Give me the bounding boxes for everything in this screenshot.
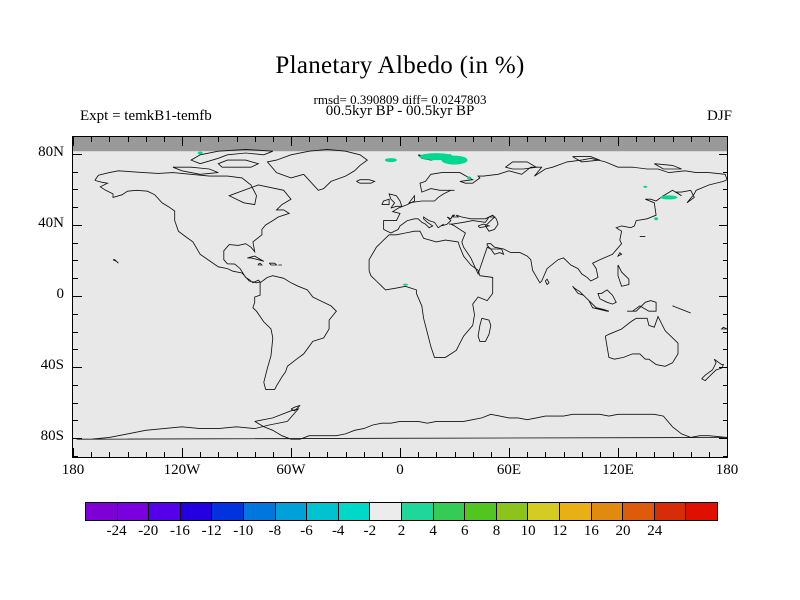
tick-mark [255,137,256,142]
colorbar-swatch[interactable] [212,503,244,520]
colorbar-swatch[interactable] [307,503,339,520]
tick-mark [709,137,710,142]
tick-mark [618,448,619,457]
tick-mark [73,367,82,368]
colorbar-tick-label: 16 [584,523,599,540]
tick-mark [382,452,383,457]
colorbar-swatch[interactable] [560,503,592,520]
tick-mark [723,332,728,333]
colorbar-tick-label: -8 [269,523,282,540]
tick-mark [291,448,292,457]
tick-mark [654,137,655,142]
tick-mark [491,452,492,457]
colorbar-swatch[interactable] [370,503,402,520]
tick-mark [600,452,601,457]
tick-mark [182,137,183,146]
colorbar-swatch[interactable] [149,503,181,520]
colorbar-tick-label: 20 [616,523,631,540]
tick-mark [218,452,219,457]
tick-mark [146,137,147,142]
map-background [73,137,727,457]
tick-mark [164,137,165,142]
colorbar-tick-label: 12 [552,523,567,540]
colorbar-swatch[interactable] [465,503,497,520]
colorbar-tick-label: -12 [202,523,222,540]
anomaly-patch [660,195,677,199]
tick-mark [109,137,110,142]
colorbar-swatch[interactable] [118,503,150,520]
x-axis-label: 120W [164,462,201,479]
colorbar-swatch[interactable] [497,503,529,520]
tick-mark [182,448,183,457]
x-axis-label: 180 [716,462,739,479]
tick-mark [527,452,528,457]
tick-mark [364,452,365,457]
colorbar-swatch[interactable] [528,503,560,520]
tick-mark [273,137,274,142]
tick-mark [723,420,728,421]
tick-mark [473,137,474,142]
tick-mark [491,137,492,142]
tick-mark [200,452,201,457]
anomaly-patch [467,176,471,179]
tick-mark [673,452,674,457]
tick-mark [636,137,637,142]
tick-mark [418,452,419,457]
tick-mark [418,137,419,142]
colorbar-tick-label: 6 [461,523,469,540]
tick-mark [545,452,546,457]
tick-mark [73,260,78,261]
tick-mark [400,137,401,146]
tick-mark [564,137,565,142]
tick-mark [600,137,601,142]
colorbar-swatch[interactable] [434,503,466,520]
tick-mark [527,137,528,142]
tick-mark [73,154,82,155]
colorbar-tick-label: -2 [364,523,377,540]
tick-mark [218,137,219,142]
anomaly-patch [403,284,408,286]
tick-mark [719,154,728,155]
world-map [73,137,727,457]
tick-mark [327,452,328,457]
tick-mark [473,452,474,457]
tick-mark [91,452,92,457]
anomaly-patch [654,217,658,220]
colorbar-swatch[interactable] [623,503,655,520]
tick-mark [719,225,728,226]
y-axis-label: 40S [41,357,64,374]
colorbar-tick-label: -24 [107,523,127,540]
colorbar-swatch[interactable] [276,503,308,520]
colorbar-tick-label: -4 [332,523,345,540]
page-title: Planetary Albedo (in %) [0,52,800,80]
tick-mark [723,243,728,244]
tick-mark [109,452,110,457]
tick-mark [582,452,583,457]
y-axis-label: 80S [41,428,64,445]
tick-mark [128,137,129,142]
tick-mark [237,137,238,142]
tick-mark [73,385,78,386]
tick-mark [455,452,456,457]
tick-mark [309,137,310,142]
tick-mark [291,137,292,146]
colorbar-tick-label: -16 [170,523,190,540]
tick-mark [400,448,401,457]
colorbar-swatch[interactable] [592,503,624,520]
tick-mark [73,332,78,333]
colorbar-tick-label: 8 [493,523,501,540]
tick-mark [73,225,82,226]
x-axis-label: 120E [602,462,634,479]
colorbar-swatch[interactable] [686,503,717,520]
tick-mark [346,452,347,457]
x-axis-label: 60E [497,462,521,479]
anomaly-patch [442,156,468,165]
tick-mark [723,456,728,457]
tick-mark [636,452,637,457]
map-plot-area [72,136,728,458]
tick-mark [509,448,510,457]
tick-mark [237,452,238,457]
tick-mark [723,260,728,261]
anomaly-patch [198,152,203,155]
y-axis-label: 0 [57,286,65,303]
tick-mark [327,137,328,142]
tick-mark [73,296,82,297]
colorbar-tick-label: 4 [429,523,437,540]
figure-canvas: Planetary Albedo (in %) rmsd= 0.390809 d… [0,0,800,600]
colorbar-tick-label: -20 [138,523,158,540]
tick-mark [719,367,728,368]
colorbar-swatch[interactable] [181,503,213,520]
tick-mark [436,137,437,142]
x-axis-label: 60W [276,462,305,479]
tick-mark [255,452,256,457]
tick-mark [545,137,546,142]
y-axis-label: 80N [38,144,64,161]
tick-mark [618,137,619,146]
x-axis-label: 180 [62,462,85,479]
tick-mark [73,403,78,404]
tick-mark [582,137,583,142]
experiment-label: Expt = temkB1-temfb [80,108,212,125]
tick-mark [723,349,728,350]
season-label: DJF [707,108,732,125]
colorbar-tick-label: -10 [233,523,253,540]
tick-mark [709,452,710,457]
tick-mark [91,137,92,142]
tick-mark [436,452,437,457]
tick-mark [723,385,728,386]
tick-mark [73,420,78,421]
tick-mark [723,314,728,315]
tick-mark [73,243,78,244]
tick-mark [723,403,728,404]
tick-mark [73,207,78,208]
colorbar-tick-label: 24 [647,523,662,540]
tick-mark [73,172,78,173]
colorbar-tick-label: 10 [521,523,536,540]
tick-mark [382,137,383,142]
tick-mark [673,137,674,142]
tick-mark [273,452,274,457]
tick-mark [73,314,78,315]
colorbar-tick-labels: -24-20-16-12-10-8-6-4-224681012162024 [85,523,718,543]
tick-mark [73,189,78,190]
tick-mark [509,137,510,146]
tick-mark [73,278,78,279]
tick-mark [364,137,365,142]
colorbar-swatch[interactable] [402,503,434,520]
colorbar-swatch[interactable] [655,503,687,520]
colorbar-swatch[interactable] [86,503,118,520]
tick-mark [723,278,728,279]
tick-mark [723,189,728,190]
colorbar-swatch[interactable] [339,503,371,520]
tick-mark [346,137,347,142]
tick-mark [73,349,78,350]
tick-mark [719,438,728,439]
colorbar[interactable] [85,502,718,521]
colorbar-tick-label: 2 [398,523,406,540]
tick-mark [723,172,728,173]
tick-mark [719,296,728,297]
tick-mark [723,207,728,208]
tick-mark [146,452,147,457]
tick-mark [73,456,78,457]
colorbar-tick-label: -6 [300,523,313,540]
anomaly-patch [643,186,647,188]
tick-mark [128,452,129,457]
x-axis-label: 0 [396,462,404,479]
tick-mark [654,452,655,457]
tick-mark [164,452,165,457]
tick-mark [73,438,82,439]
tick-mark [691,137,692,142]
anomaly-patch [385,158,397,162]
y-axis-label: 40N [38,215,64,232]
colorbar-swatch[interactable] [244,503,276,520]
tick-mark [309,452,310,457]
tick-mark [455,137,456,142]
tick-mark [564,452,565,457]
tick-mark [200,137,201,142]
tick-mark [691,452,692,457]
tick-mark [73,137,74,146]
